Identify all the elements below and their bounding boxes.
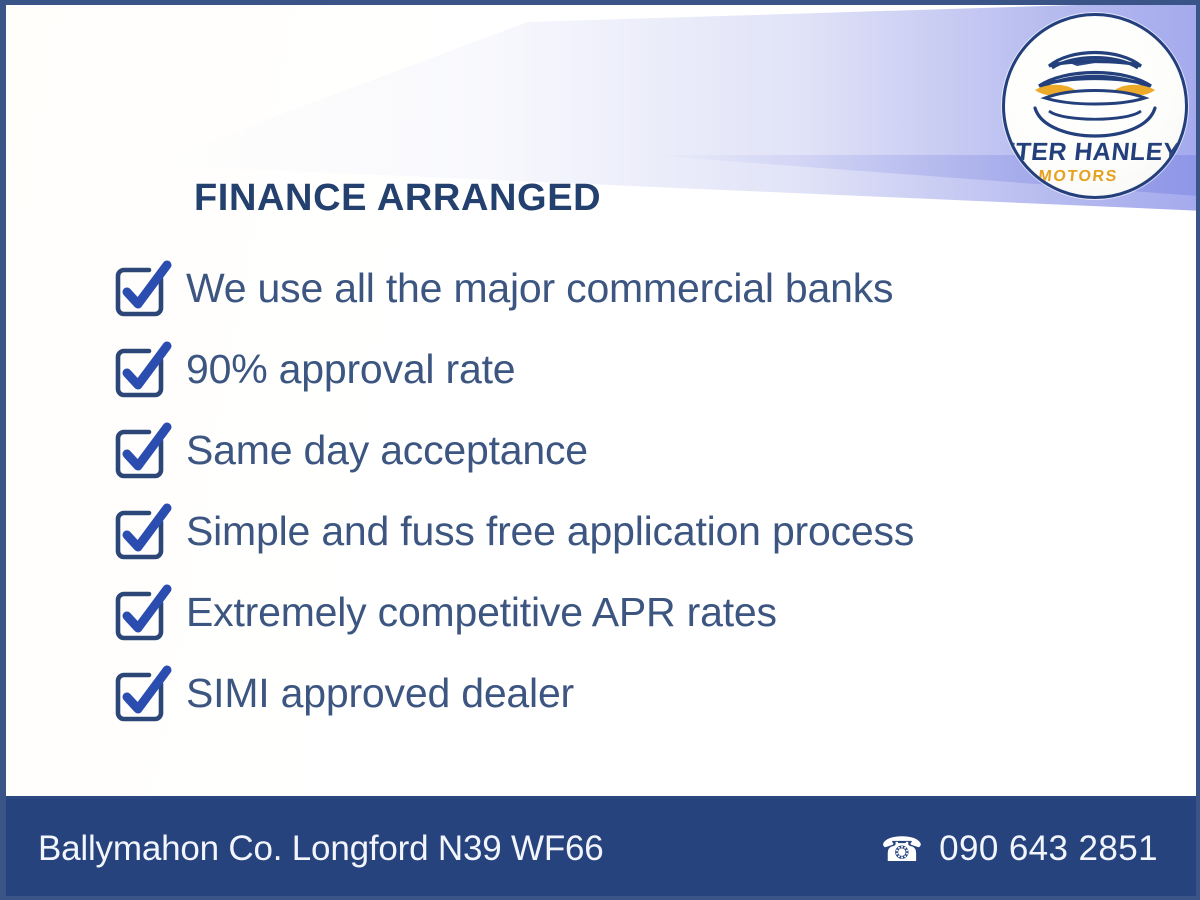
- checkbox-checked-icon: [110, 663, 172, 725]
- feature-list: We use all the major commercial banks 90…: [110, 248, 1110, 734]
- list-item-label: We use all the major commercial banks: [186, 268, 893, 309]
- list-item: Simple and fuss free application process: [110, 491, 1110, 572]
- logo-brand-name: PETER HANLEY: [1005, 138, 1182, 166]
- list-item-label: Simple and fuss free application process: [186, 511, 914, 552]
- list-item: 90% approval rate: [110, 329, 1110, 410]
- checkbox-checked-icon: [110, 339, 172, 401]
- list-item: We use all the major commercial banks: [110, 248, 1110, 329]
- checkbox-checked-icon: [110, 420, 172, 482]
- list-item-label: 90% approval rate: [186, 349, 515, 390]
- checkbox-checked-icon: [110, 582, 172, 644]
- telephone-icon: ☎: [881, 833, 923, 867]
- logo-motors-word: MOTORS: [1037, 167, 1118, 185]
- checkbox-checked-icon: [110, 501, 172, 563]
- finance-arranged-poster: PETER HANLEY MOTORS FINANCE ARRANGED We …: [0, 0, 1200, 900]
- checkbox-checked-icon: [110, 258, 172, 320]
- list-item: Same day acceptance: [110, 410, 1110, 491]
- footer-phone-number: 090 643 2851: [939, 829, 1158, 869]
- list-item-label: Same day acceptance: [186, 430, 588, 471]
- car-front-logo-icon: PETER HANLEY MOTORS: [1005, 16, 1185, 196]
- footer-address: Ballymahon Co. Longford N39 WF66: [38, 829, 604, 869]
- list-item: Extremely competitive APR rates: [110, 572, 1110, 653]
- footer-phone-group: ☎ 090 643 2851: [881, 829, 1158, 869]
- footer-contact-bar: Ballymahon Co. Longford N39 WF66 ☎ 090 6…: [0, 796, 1200, 900]
- list-item-label: Extremely competitive APR rates: [186, 592, 777, 633]
- dealer-logo-badge: PETER HANLEY MOTORS: [1002, 13, 1188, 199]
- list-item: SIMI approved dealer: [110, 653, 1110, 734]
- list-item-label: SIMI approved dealer: [186, 673, 574, 714]
- page-title: FINANCE ARRANGED: [194, 177, 601, 220]
